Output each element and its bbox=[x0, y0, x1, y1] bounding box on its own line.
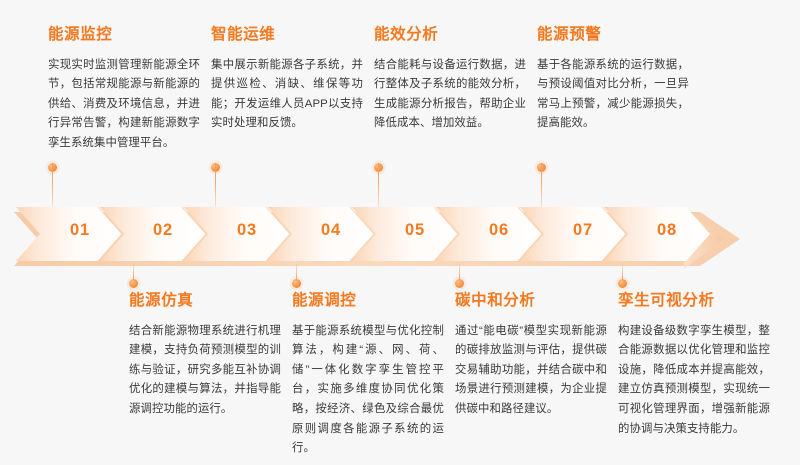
step-block-08: 孪生可视分析 构建设备级数字孪生模型，整合能源数据以优化管理和监控设施，降低成本… bbox=[618, 292, 770, 439]
step-body-06: 通过“能电碳”模型实现新能源的碳排放监测与评估，提供碳交易辅助功能，并结合碳中和… bbox=[455, 322, 607, 420]
step-block-01: 能源监控 实现实时监测管理新能源全环节，包括常规能源与新能源的供给、消费及环境信… bbox=[48, 26, 200, 154]
connector-dot-04 bbox=[292, 279, 301, 288]
step-title-01: 能源监控 bbox=[48, 26, 200, 45]
connector-dot-02 bbox=[129, 279, 138, 288]
connector-stem-04 bbox=[292, 264, 301, 288]
step-body-04: 基于能源系统模型与优化控制算法，构建“源、网、荷、储”一体化数字孪生管控平台，实… bbox=[292, 322, 444, 459]
step-number-03: 03 bbox=[215, 221, 279, 240]
step-body-02: 结合新能源物理系统进行机理建模，支持负荷预测模型的训练与验证，研究多能互补协调优… bbox=[129, 322, 281, 420]
step-block-02: 能源仿真 结合新能源物理系统进行机理建模，支持负荷预测模型的训练与验证，研究多能… bbox=[129, 292, 281, 420]
connector-line-03 bbox=[215, 163, 216, 207]
step-title-04: 能源调控 bbox=[292, 292, 444, 311]
step-title-03: 智能运维 bbox=[211, 26, 363, 45]
connector-stem-01 bbox=[48, 163, 57, 207]
step-body-03: 集中展示新能源各子系统，并提供巡检、消缺、维保等功能；开发运维人员APP以支持实… bbox=[211, 56, 363, 134]
step-number-05: 05 bbox=[383, 221, 447, 240]
step-block-04: 能源调控 基于能源系统模型与优化控制算法，构建“源、网、荷、储”一体化数字孪生管… bbox=[292, 292, 444, 459]
step-title-05: 能效分析 bbox=[374, 26, 526, 45]
step-body-08: 构建设备级数字孪生模型，整合能源数据以优化管理和监控设施，降低成本并提高能效，建… bbox=[618, 322, 770, 440]
step-title-02: 能源仿真 bbox=[129, 292, 281, 311]
step-block-07: 能源预警 基于各能源系统的运行数据，与预设阈值对比分析，一旦异常马上预警，减少能… bbox=[537, 26, 689, 134]
step-block-03: 智能运维 集中展示新能源各子系统，并提供巡检、消缺、维保等功能；开发运维人员AP… bbox=[211, 26, 363, 134]
connector-stem-05 bbox=[374, 163, 383, 207]
step-title-06: 碳中和分析 bbox=[455, 292, 607, 311]
step-number-01: 01 bbox=[48, 221, 112, 240]
connector-line-05 bbox=[378, 163, 379, 207]
chevron-arrow-band bbox=[0, 203, 800, 281]
process-timeline-infographic: 01 02 03 04 05 06 07 08 能源监控 实现实时监测管理新能源… bbox=[0, 0, 800, 465]
connector-line-07 bbox=[541, 163, 542, 207]
connector-stem-08 bbox=[618, 264, 627, 288]
step-body-05: 结合能耗与设备运行数据，进行整体及子系统的能效分析，生成能源分析报告，帮助企业降… bbox=[374, 56, 526, 134]
connector-line-01 bbox=[52, 163, 53, 207]
step-number-02: 02 bbox=[131, 221, 195, 240]
step-title-07: 能源预警 bbox=[537, 26, 689, 45]
step-block-06: 碳中和分析 通过“能电碳”模型实现新能源的碳排放监测与评估，提供碳交易辅助功能，… bbox=[455, 292, 607, 420]
connector-stem-02 bbox=[129, 264, 138, 288]
connector-stem-07 bbox=[537, 163, 546, 207]
connector-stem-06 bbox=[455, 264, 464, 288]
step-number-06: 06 bbox=[467, 221, 531, 240]
step-block-05: 能效分析 结合能耗与设备运行数据，进行整体及子系统的能效分析，生成能源分析报告，… bbox=[374, 26, 526, 134]
step-title-08: 孪生可视分析 bbox=[618, 292, 770, 311]
connector-dot-08 bbox=[618, 279, 627, 288]
connector-stem-03 bbox=[211, 163, 220, 207]
step-body-07: 基于各能源系统的运行数据，与预设阈值对比分析，一旦异常马上预警，减少能源损失，提… bbox=[537, 56, 689, 134]
step-number-04: 04 bbox=[299, 221, 363, 240]
step-body-01: 实现实时监测管理新能源全环节，包括常规能源与新能源的供给、消费及环境信息，并进行… bbox=[48, 56, 200, 154]
step-number-08: 08 bbox=[635, 221, 699, 240]
step-number-07: 07 bbox=[551, 221, 615, 240]
connector-dot-06 bbox=[455, 279, 464, 288]
